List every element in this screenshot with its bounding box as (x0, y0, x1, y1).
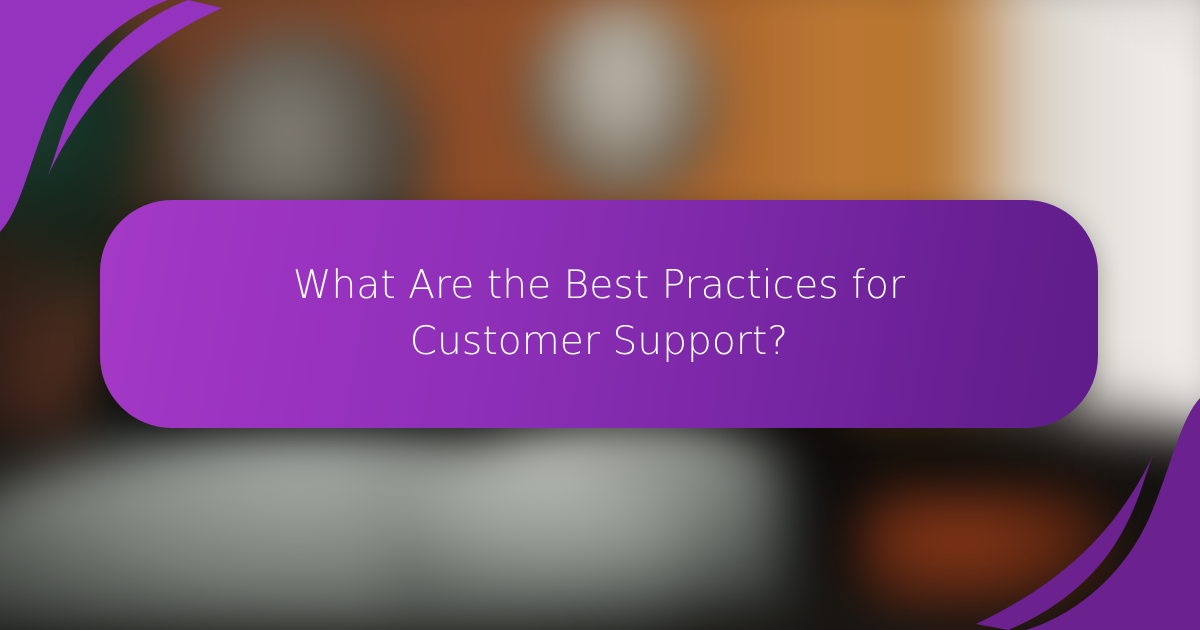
headline-card: What Are the Best Practices for Customer… (100, 200, 1098, 428)
background-person-right-head (525, 0, 715, 205)
headline-text: What Are the Best Practices for Customer… (204, 258, 994, 370)
social-share-card: What Are the Best Practices for Customer… (0, 0, 1200, 630)
background-table (860, 490, 1110, 610)
